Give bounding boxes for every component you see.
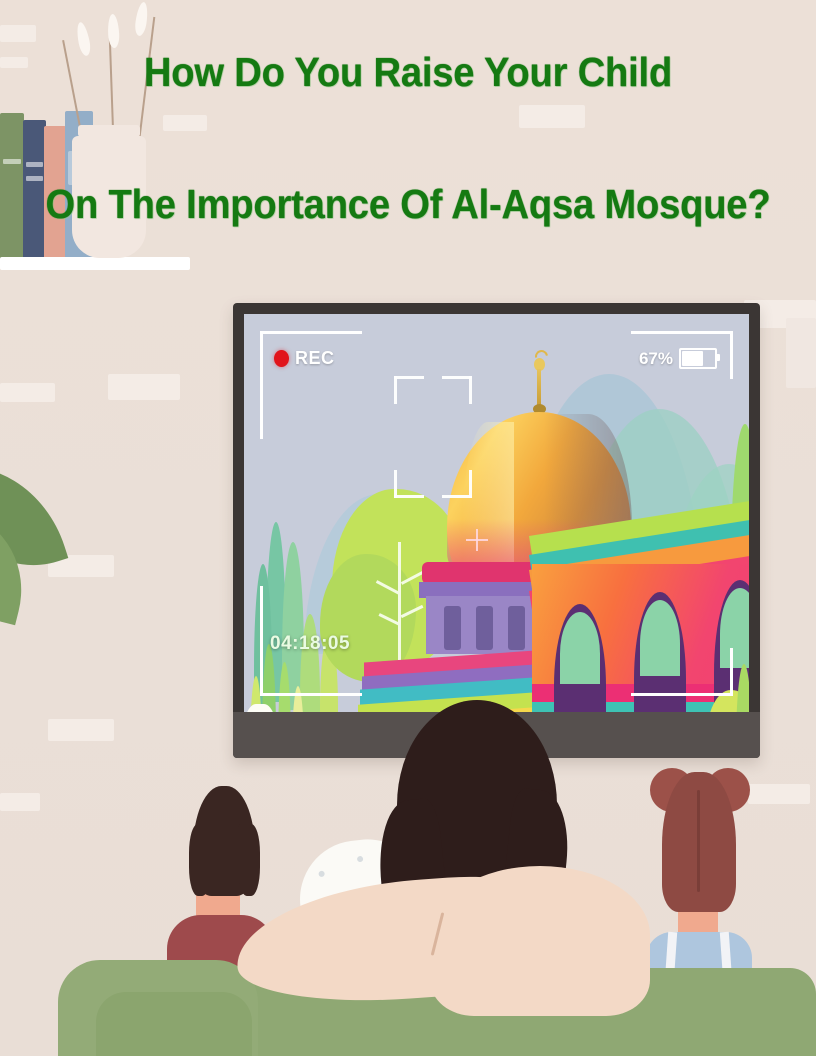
wall-decal bbox=[786, 318, 816, 388]
wall-decal bbox=[0, 383, 55, 402]
drum-window bbox=[508, 606, 525, 650]
girl-hair-part bbox=[697, 790, 700, 892]
wall-decal bbox=[0, 25, 36, 42]
mother-shoulder bbox=[430, 866, 650, 1016]
boy-hair-side bbox=[238, 824, 260, 896]
sofa-seam bbox=[96, 992, 252, 1056]
wall-decal bbox=[108, 374, 180, 400]
headline-line-2: On The Importance Of Al-Aqsa Mosque? bbox=[29, 181, 788, 228]
wall-decal bbox=[748, 784, 810, 804]
book-green bbox=[0, 113, 24, 259]
tv-screen: REC 67% bbox=[244, 314, 749, 712]
television[interactable]: REC 67% bbox=[233, 303, 760, 758]
wall-decal bbox=[163, 115, 207, 131]
tree-branch bbox=[398, 542, 401, 660]
poster-canvas: REC 67% bbox=[0, 0, 816, 1056]
wall-decal bbox=[48, 719, 114, 741]
wall-decal bbox=[519, 105, 585, 128]
wall-decal bbox=[0, 57, 28, 68]
bookshelf-board bbox=[0, 257, 190, 270]
dome-spire bbox=[537, 369, 541, 409]
drum-window bbox=[444, 606, 461, 650]
boy-hair-side bbox=[189, 824, 211, 896]
wall-decal bbox=[0, 793, 40, 811]
drum-window bbox=[476, 606, 493, 650]
headline-line-1: How Do You Raise Your Child bbox=[29, 49, 788, 96]
